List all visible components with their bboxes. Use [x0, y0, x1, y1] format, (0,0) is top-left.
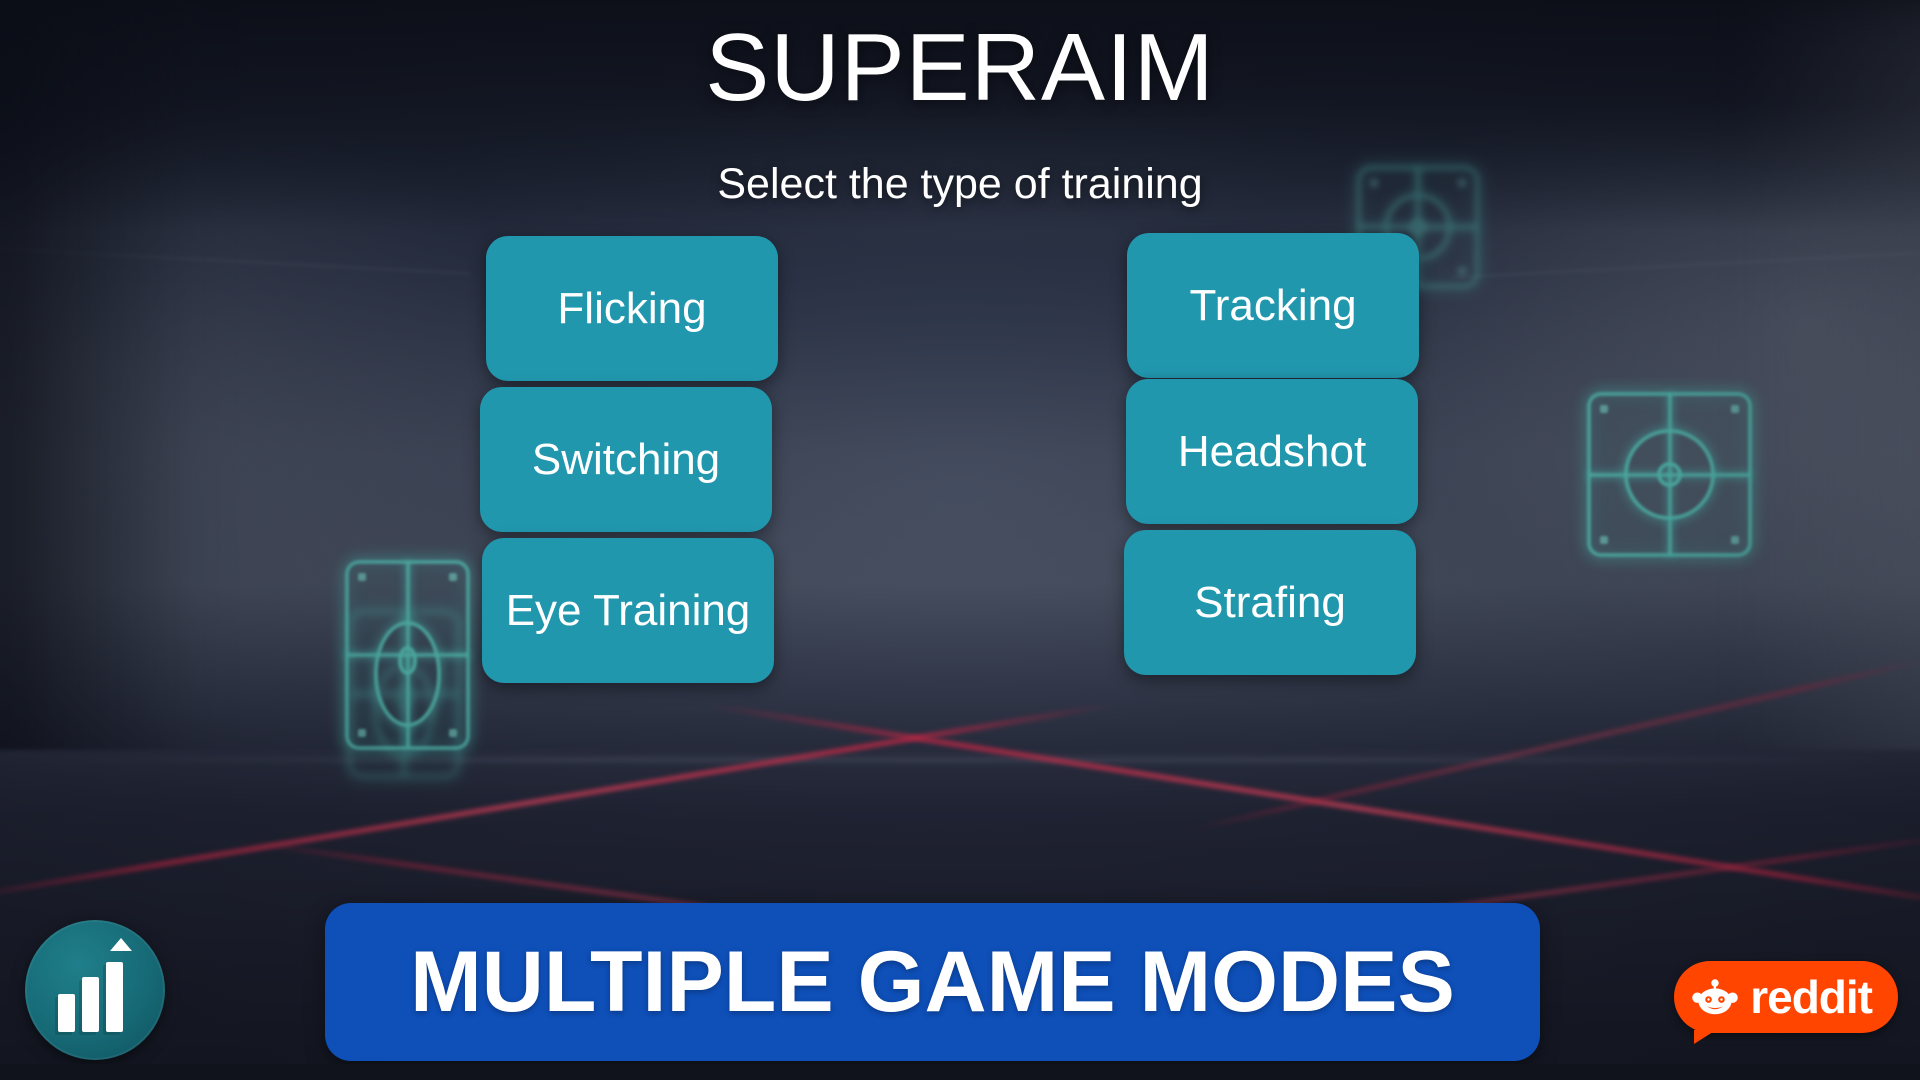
bar-chart-icon [58, 952, 132, 1032]
mode-button-flicking[interactable]: Flicking [486, 236, 778, 381]
letterbox-bar [0, 1064, 1920, 1080]
snoo-icon [1692, 974, 1738, 1020]
mode-button-strafing[interactable]: Strafing [1124, 530, 1416, 675]
menu-overlay: SUPERAIM Select the type of training Fli… [0, 0, 1920, 1080]
arrow-up-icon [110, 938, 132, 951]
app-icon-badge[interactable] [25, 920, 165, 1060]
promo-banner: MULTIPLE GAME MODES [325, 903, 1540, 1061]
page-title: SUPERAIM [0, 18, 1920, 119]
mode-button-eye-training[interactable]: Eye Training [482, 538, 774, 683]
page-subtitle: Select the type of training [0, 160, 1920, 209]
game-menu-screen: SUPERAIM Select the type of training Fli… [0, 0, 1920, 1080]
training-mode-grid: Flicking Tracking Switching Headshot Eye… [480, 278, 1380, 713]
reddit-badge[interactable]: reddit [1674, 961, 1898, 1033]
reddit-wordmark: reddit [1750, 974, 1872, 1020]
mode-button-headshot[interactable]: Headshot [1126, 379, 1418, 524]
promo-banner-label: MULTIPLE GAME MODES [410, 939, 1455, 1025]
mode-button-switching[interactable]: Switching [480, 387, 772, 532]
mode-button-tracking[interactable]: Tracking [1127, 233, 1419, 378]
